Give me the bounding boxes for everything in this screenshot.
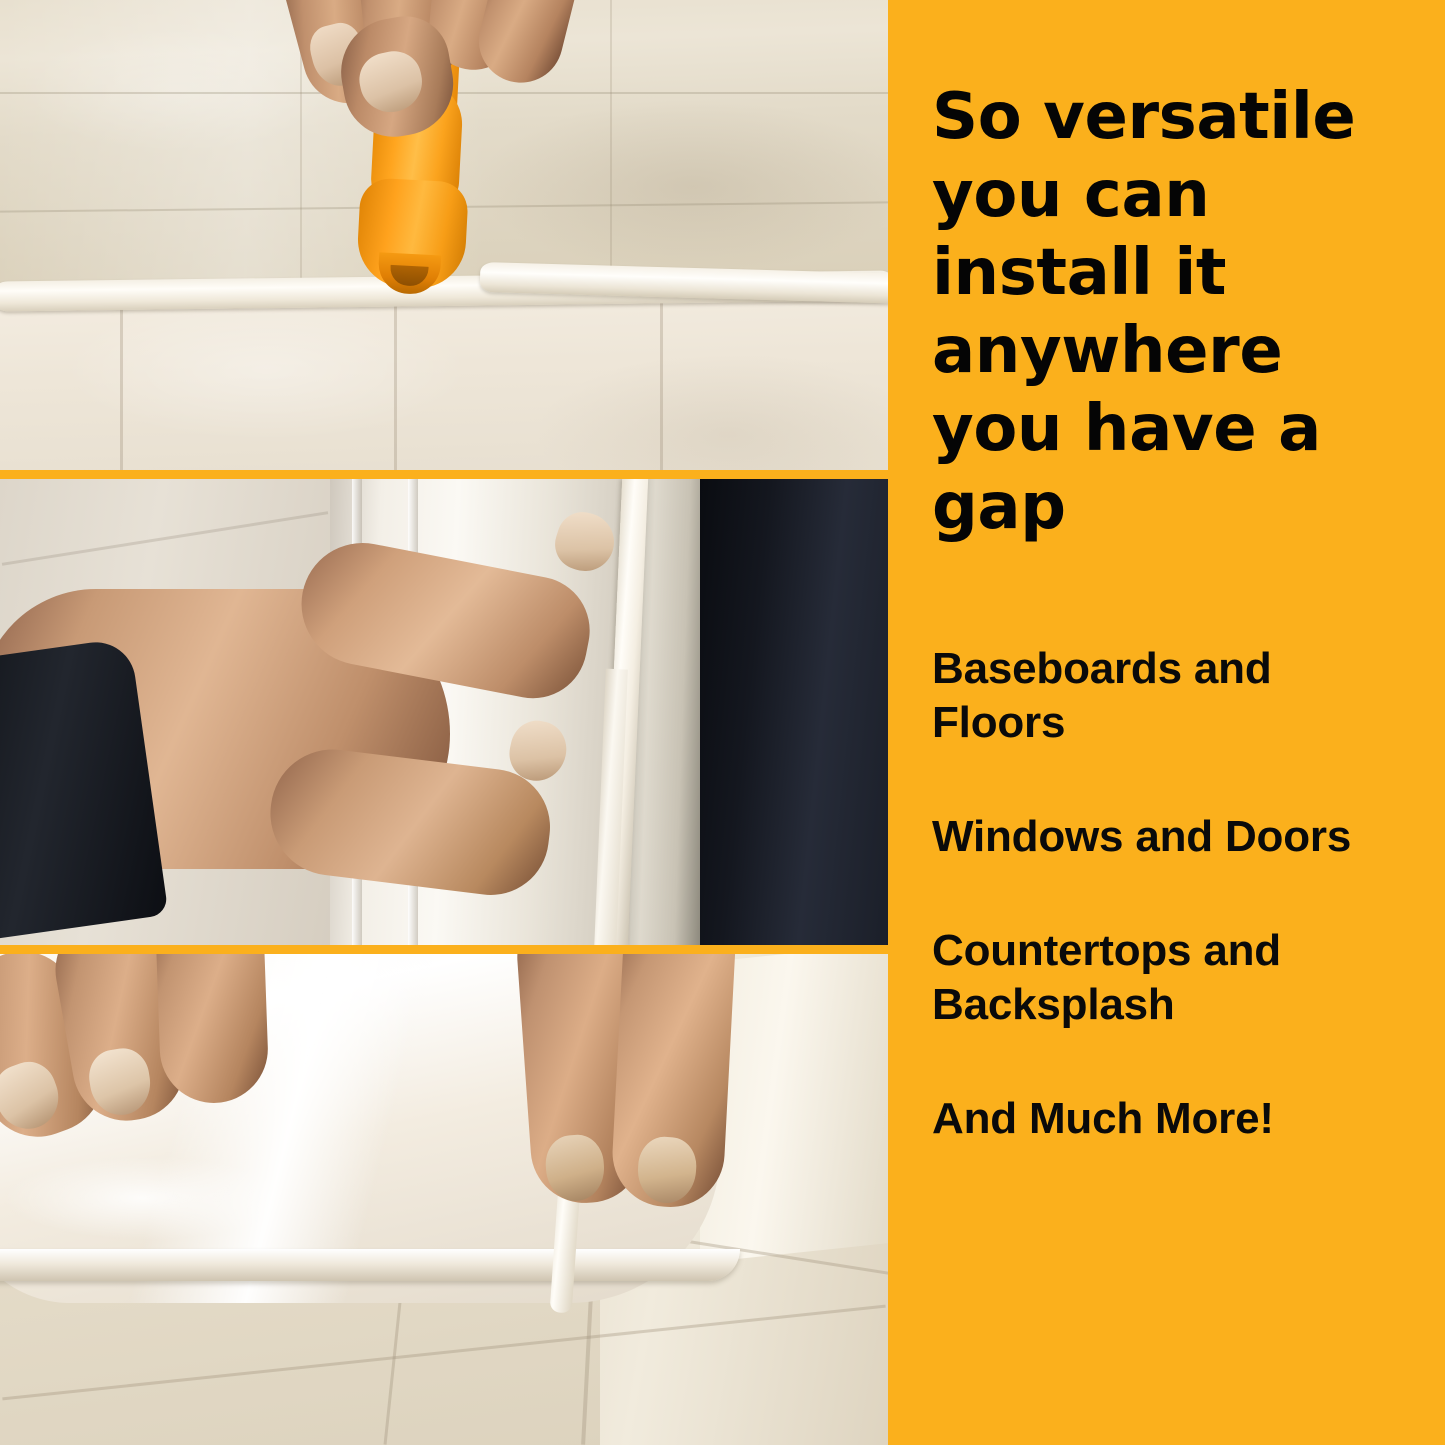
grout-line bbox=[660, 300, 663, 470]
copy-column: So versatile you can install it anywhere… bbox=[888, 0, 1445, 1445]
right-hand bbox=[500, 953, 860, 1283]
left-hand bbox=[0, 953, 390, 1197]
panel-divider bbox=[0, 470, 888, 479]
finger bbox=[154, 953, 269, 1105]
use-case-list: Baseboards and Floors Windows and Doors … bbox=[932, 642, 1445, 1146]
photo-caulk-strip-on-door-frame bbox=[0, 479, 888, 945]
photo-caulk-tool-on-tile-joint bbox=[0, 0, 888, 470]
tile-floor bbox=[0, 300, 888, 470]
hand-holding-tool bbox=[252, 0, 582, 212]
use-case-countertops-and-backsplash: Countertops and Backsplash bbox=[932, 924, 1402, 1032]
use-case-and-much-more: And Much More! bbox=[932, 1092, 1402, 1146]
panel-divider bbox=[0, 945, 888, 954]
wall-seam bbox=[610, 0, 612, 300]
grout-line bbox=[394, 300, 397, 470]
photo-caulk-strip-on-tub-rim bbox=[0, 953, 888, 1445]
headline: So versatile you can install it anywhere… bbox=[932, 78, 1402, 546]
finger bbox=[470, 0, 594, 92]
grout-line bbox=[120, 300, 123, 470]
photo-column bbox=[0, 0, 888, 1445]
use-case-baseboards-and-floors: Baseboards and Floors bbox=[932, 642, 1402, 750]
dark-gap bbox=[700, 479, 888, 945]
product-feature-image: So versatile you can install it anywhere… bbox=[0, 0, 1445, 1445]
use-case-windows-and-doors: Windows and Doors bbox=[932, 810, 1402, 864]
